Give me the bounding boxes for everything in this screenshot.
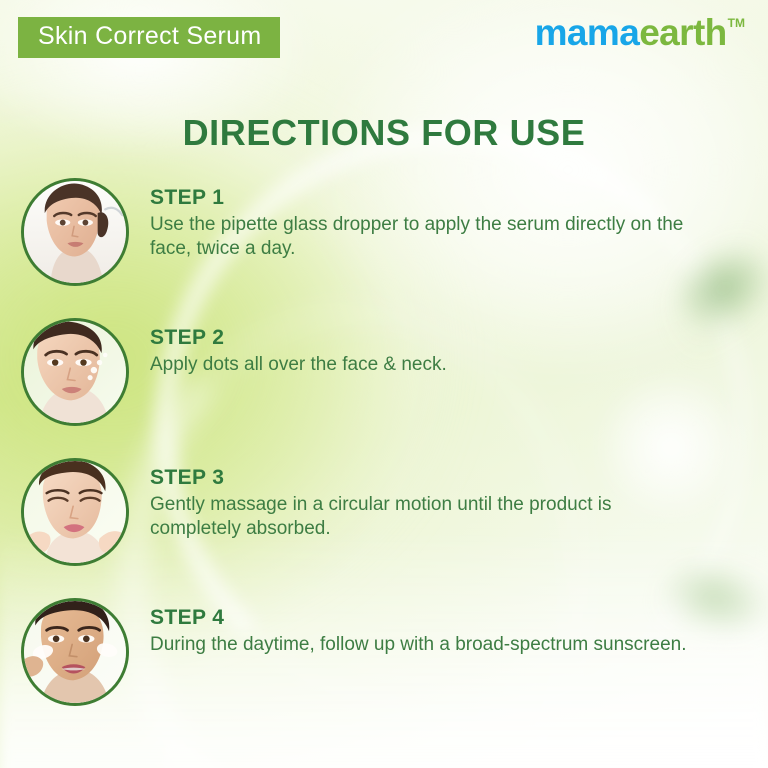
list-item: STEP 1 Use the pipette glass dropper to … (0, 174, 768, 314)
step-text-block: STEP 2 Apply dots all over the face & ne… (150, 314, 768, 377)
avatar (21, 318, 129, 426)
step-avatar-container (0, 314, 150, 426)
product-name-label: Skin Correct Serum (38, 22, 262, 50)
step-description: Apply dots all over the face & neck. (150, 353, 690, 377)
step-text-block: STEP 1 Use the pipette glass dropper to … (150, 174, 768, 262)
step-4-photo (24, 601, 126, 703)
list-item: STEP 4 During the daytime, follow up wit… (0, 594, 768, 734)
step-description: Gently massage in a circular motion unti… (150, 493, 690, 542)
directions-for-use-poster: Skin Correct Serum mamaearthTM DIRECTION… (0, 0, 768, 768)
steps-list: STEP 1 Use the pipette glass dropper to … (0, 174, 768, 734)
poster-header: Skin Correct Serum mamaearthTM (0, 0, 768, 72)
avatar (21, 458, 129, 566)
avatar (21, 178, 129, 286)
brand-logo-mama: mama (535, 12, 640, 53)
list-item: STEP 2 Apply dots all over the face & ne… (0, 314, 768, 454)
step-avatar-container (0, 594, 150, 706)
step-label: STEP 1 (150, 186, 728, 210)
avatar (21, 598, 129, 706)
brand-logo-earth: earth (639, 12, 726, 53)
step-avatar-container (0, 174, 150, 286)
list-item: STEP 3 Gently massage in a circular moti… (0, 454, 768, 594)
step-label: STEP 4 (150, 606, 728, 630)
step-description: Use the pipette glass dropper to apply t… (150, 213, 690, 262)
step-2-photo (24, 321, 126, 423)
brand-logo: mamaearthTM (535, 14, 744, 51)
step-label: STEP 3 (150, 466, 728, 490)
step-avatar-container (0, 454, 150, 566)
step-description: During the daytime, follow up with a bro… (150, 633, 690, 657)
step-text-block: STEP 3 Gently massage in a circular moti… (150, 454, 768, 542)
trademark-icon: TM (728, 16, 745, 30)
step-label: STEP 2 (150, 326, 728, 350)
step-1-photo (24, 181, 126, 283)
step-3-photo (24, 461, 126, 563)
step-text-block: STEP 4 During the daytime, follow up wit… (150, 594, 768, 657)
page-title: DIRECTIONS FOR USE (0, 112, 768, 154)
product-name-banner: Skin Correct Serum (18, 17, 280, 58)
